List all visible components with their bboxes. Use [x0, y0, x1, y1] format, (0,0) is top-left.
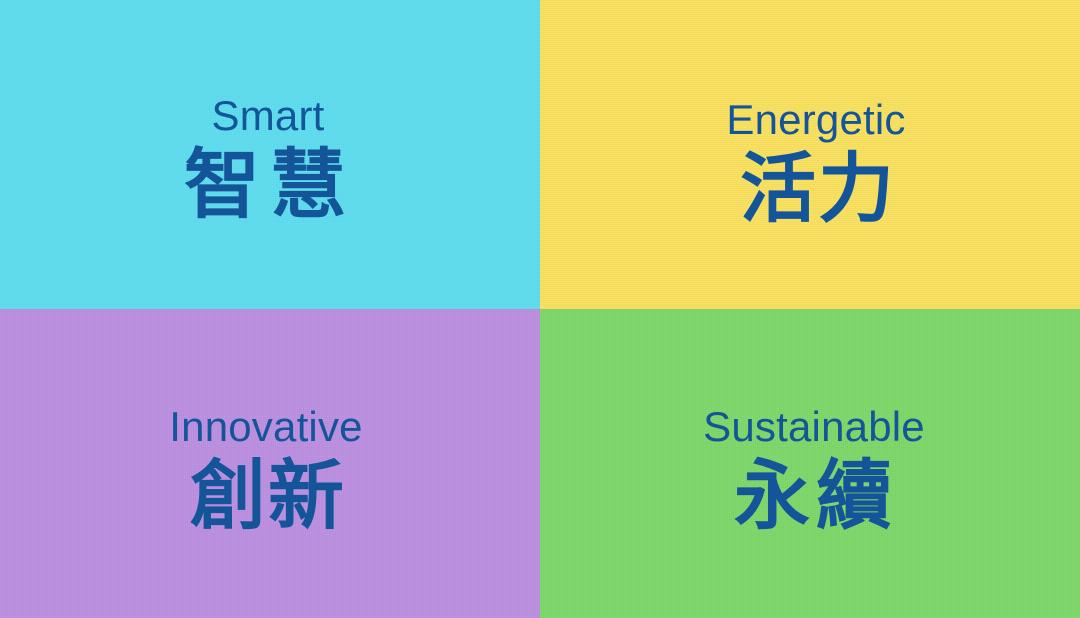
brand-values-board: Smart 智慧 Energetic 活力 Innovative 創新 Sust…	[0, 0, 1080, 618]
term-chinese-sustainable: 永續	[703, 457, 925, 538]
label-stack-smart: Smart 智慧	[180, 95, 356, 226]
label-stack-sustainable: Sustainable 永續	[703, 406, 925, 537]
quadrant-energetic: Energetic 活力	[540, 0, 1080, 309]
quadrant-smart: Smart 智慧	[0, 0, 540, 309]
term-english-innovative: Innovative	[169, 406, 362, 449]
term-english-smart: Smart	[180, 95, 356, 138]
term-chinese-innovative: 創新	[169, 457, 362, 538]
label-stack-energetic: Energetic 活力	[726, 99, 905, 230]
quadrant-sustainable: Sustainable 永續	[540, 309, 1080, 618]
term-english-energetic: Energetic	[726, 99, 905, 142]
term-chinese-smart: 智慧	[180, 146, 356, 227]
quadrant-innovative: Innovative 創新	[0, 309, 540, 618]
label-stack-innovative: Innovative 創新	[169, 406, 362, 537]
term-english-sustainable: Sustainable	[703, 406, 925, 449]
term-chinese-energetic: 活力	[726, 150, 905, 231]
